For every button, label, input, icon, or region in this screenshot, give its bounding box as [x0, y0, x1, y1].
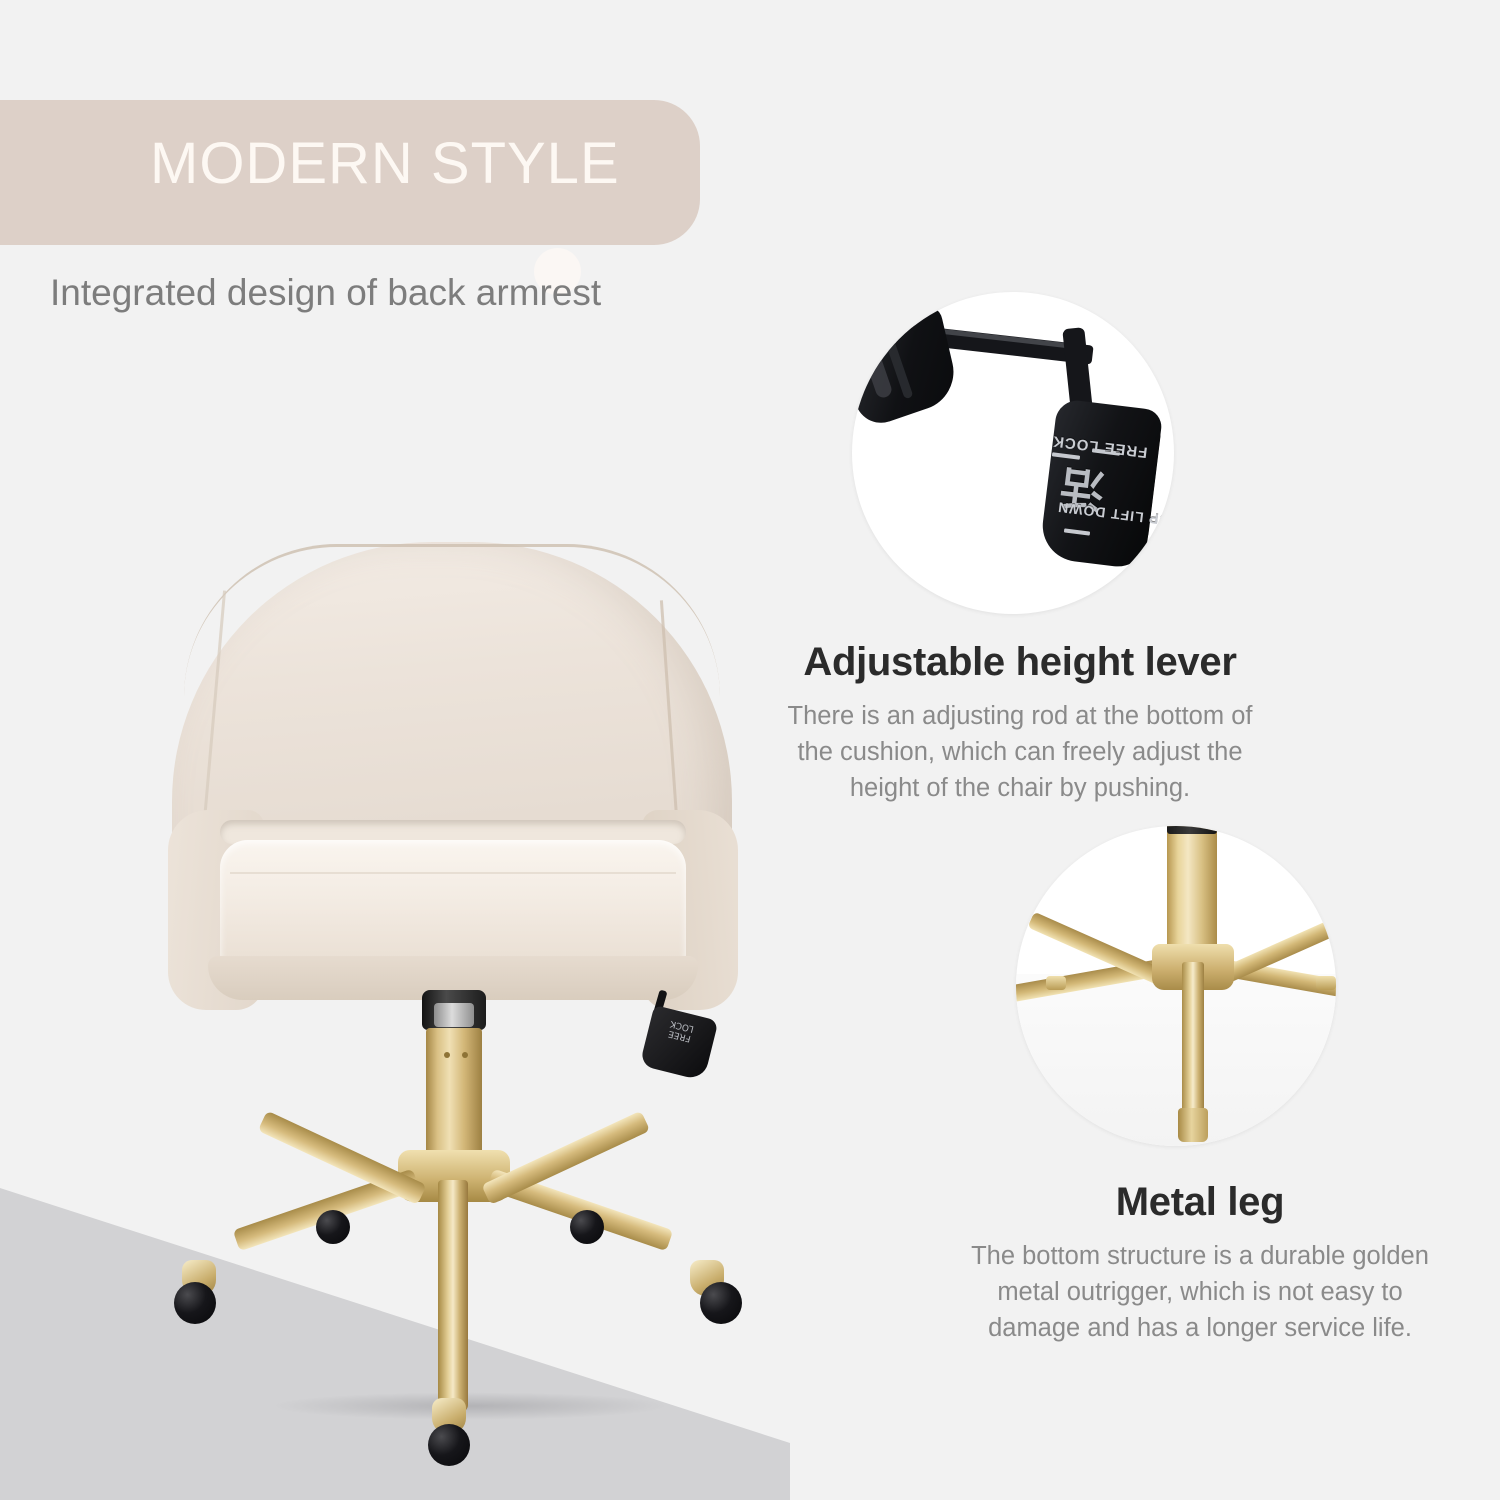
chair-cylinder-screw	[444, 1052, 450, 1058]
caster-wheel	[570, 1210, 604, 1244]
height-lever-art: FREE LOCK 活 UP LIFT DOWN	[852, 292, 1174, 614]
leg-floor-surface	[1016, 974, 1336, 1146]
leg-front-foot	[1178, 1108, 1208, 1142]
leg-gas-cylinder	[1167, 826, 1217, 950]
chair-gas-collar-chrome	[434, 1003, 474, 1027]
leg-cylinder-cap	[1167, 826, 1217, 834]
metal-leg-photo	[1016, 826, 1336, 1146]
leg-spoke-cap	[1316, 976, 1336, 990]
main-chair-image: FREE LOCK	[150, 520, 770, 1440]
feature-title-adjustable-height-lever: Adjustable height lever	[760, 640, 1280, 685]
caster-wheel	[700, 1282, 742, 1324]
feature-description-adjustable-height-lever: There is an adjusting rod at the bottom …	[780, 698, 1260, 807]
caster-wheel	[174, 1282, 216, 1324]
chair-gas-cylinder	[426, 1028, 482, 1164]
banner-title: MODERN STYLE	[150, 135, 620, 193]
caster-wheel	[428, 1424, 470, 1466]
page-subtitle: Integrated design of back armrest	[50, 272, 601, 314]
chair-back-seam	[184, 544, 720, 697]
height-lever-photo: FREE LOCK 活 UP LIFT DOWN	[852, 292, 1174, 614]
chair-base-front-post	[438, 1180, 468, 1412]
feature-description-metal-leg: The bottom structure is a durable golden…	[955, 1238, 1445, 1347]
feature-title-metal-leg: Metal leg	[940, 1180, 1460, 1225]
caster-wheel	[316, 1210, 350, 1244]
chair-cylinder-screw	[462, 1052, 468, 1058]
infographic-page: MODERN STYLE Integrated design of back a…	[0, 0, 1500, 1500]
leg-spoke-cap	[1046, 976, 1066, 990]
metal-leg-art	[1016, 826, 1336, 1146]
chair-seat-seam	[230, 872, 676, 874]
chair-shadow	[270, 1392, 670, 1420]
chair-height-lever-handle	[639, 1005, 718, 1081]
